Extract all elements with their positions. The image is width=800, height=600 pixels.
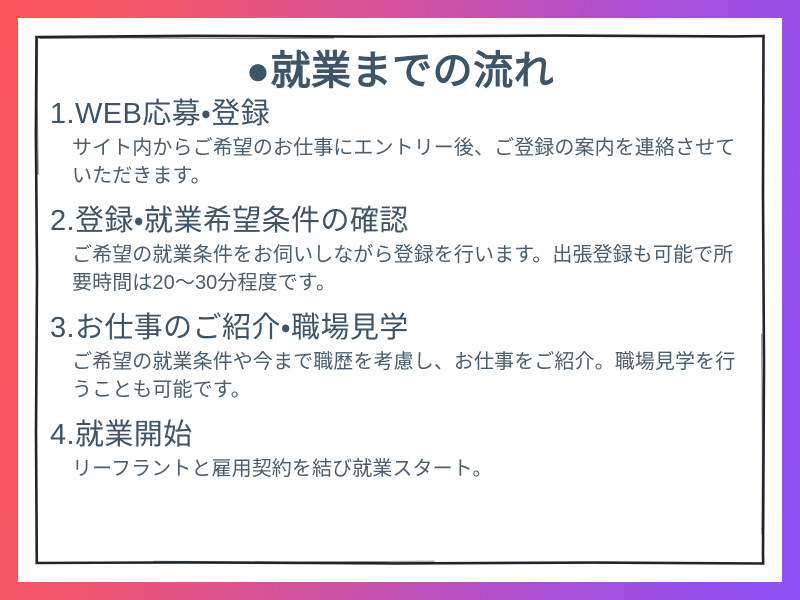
page-root: ●就業までの流れ 1.WEB応募・登録 サイト内からご希望のお仕事にエントリー後… (0, 0, 800, 600)
step-item-1: 1.WEB応募・登録 サイト内からご希望のお仕事にエントリー後、ご登録の案内を連… (50, 96, 750, 190)
step-item-4: 4.就業開始 リーフラントと雇用契約を結び就業スタート。 (50, 417, 750, 483)
step-heading-4: 4.就業開始 (50, 417, 750, 454)
step-body-4: リーフラントと雇用契約を結び就業スタート。 (50, 455, 750, 483)
step-item-2: 2.登録・就業希望条件の確認 ご希望の就業条件をお伺いしながら登録を行います。出… (50, 203, 750, 297)
page-title: ●就業までの流れ (50, 48, 750, 94)
step-item-3: 3.お仕事のご紹介・職場見学 ご希望の就業条件や今まで職歴を考慮し、お仕事をご紹… (50, 310, 750, 404)
step-body-3: ご希望の就業条件や今まで職歴を考慮し、お仕事をご紹介。職場見学を行うことも可能で… (50, 348, 750, 404)
content-card: ●就業までの流れ 1.WEB応募・登録 サイト内からご希望のお仕事にエントリー後… (18, 18, 782, 582)
step-body-1: サイト内からご希望のお仕事にエントリー後、ご登録の案内を連絡させていただきます。 (50, 134, 750, 190)
step-heading-2: 2.登録・就業希望条件の確認 (50, 203, 750, 240)
step-heading-1: 1.WEB応募・登録 (50, 96, 750, 133)
step-body-2: ご希望の就業条件をお伺いしながら登録を行います。出張登録も可能で所要時間は20〜… (50, 241, 750, 297)
content-area: ●就業までの流れ 1.WEB応募・登録 サイト内からご希望のお仕事にエントリー後… (34, 34, 766, 566)
step-heading-3: 3.お仕事のご紹介・職場見学 (50, 310, 750, 347)
